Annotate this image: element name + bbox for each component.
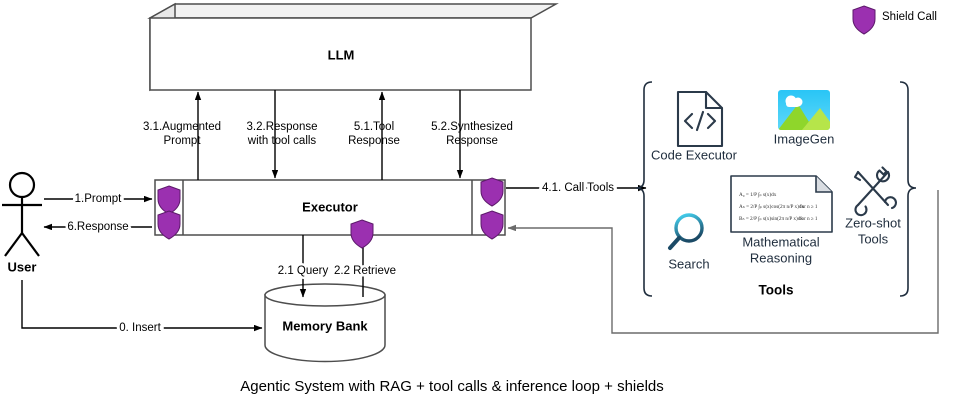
edge-tool-responses-line (508, 190, 938, 333)
edge-call-tools-label: 4.1. Call Tools (542, 182, 614, 194)
edge-synthesized-response-label-2: Response (446, 135, 498, 147)
edge-insert-label: 0. Insert (119, 322, 161, 334)
edge-response-tool-calls-label-1: 3.2.Response (247, 121, 318, 133)
tools-brace-left (636, 82, 652, 296)
edge-augmented-prompt-label-2: Prompt (163, 135, 201, 147)
tool-zero-shot[interactable]: Zero-shot Tools (845, 168, 901, 247)
agentic-system-diagram: LLM Executor Memory Bank User 1.Prompt 6… (0, 0, 970, 411)
tool-code-executor-label: Code Executor (651, 147, 738, 162)
user-leg-right (22, 233, 39, 256)
edge-augmented-prompt-label-1: 3.1.Augmented (143, 121, 221, 133)
edge-tool-response-label-2: Response (348, 135, 400, 147)
edge-response-tool-calls-label-2: with tool calls (247, 135, 317, 147)
tool-mathematical-reasoning[interactable]: A₀ = 1/P ∫ₚ s(x)dx Aₙ = 2/P ∫ₚ s(x)cos(2… (731, 176, 832, 265)
node-llm[interactable]: LLM (150, 4, 556, 90)
tool-math-label-2: Reasoning (750, 250, 812, 265)
llm-cube-top (150, 4, 556, 18)
edge-synthesized-response-label-1: 5.2.Synthesized (431, 121, 513, 133)
legend: Shield Call (853, 6, 937, 34)
node-memory-bank[interactable]: Memory Bank (265, 284, 385, 362)
node-executor[interactable]: Executor (155, 180, 505, 235)
user-head (10, 173, 34, 197)
node-user[interactable]: User (2, 173, 42, 274)
edge-prompt-label: 1.Prompt (75, 193, 122, 205)
shield-executor-bottom-center[interactable] (351, 220, 373, 248)
code-document-icon (678, 92, 722, 146)
shield-icon (853, 6, 875, 34)
edge-tool-response-label-1: 5.1.Tool (354, 121, 394, 133)
svg-text:for n ≥ 1: for n ≥ 1 (800, 217, 818, 222)
tool-zero-shot-label-1: Zero-shot (845, 215, 901, 230)
executor-label: Executor (302, 199, 358, 214)
tools-panel-label: Tools (759, 283, 794, 298)
edge-insert-line (22, 280, 262, 328)
svg-text:Aₙ = 2/P ∫ₚ s(x)cos(2π n/P x)d: Aₙ = 2/P ∫ₚ s(x)cos(2π n/P x)dx (739, 203, 804, 210)
magnifier-icon (670, 215, 702, 248)
tool-math-label-1: Mathematical (742, 234, 819, 249)
legend-label: Shield Call (882, 11, 937, 23)
memory-bank-top (265, 284, 385, 306)
edge-retrieve-label: 2.2 Retrieve (334, 265, 396, 277)
edge-response-label: 6.Response (67, 221, 128, 233)
math-document-icon: A₀ = 1/P ∫ₚ s(x)dx Aₙ = 2/P ∫ₚ s(x)cos(2… (731, 176, 832, 232)
svg-text:A₀ = 1/P ∫ₚ s(x)dx: A₀ = 1/P ∫ₚ s(x)dx (739, 191, 777, 198)
tool-code-executor[interactable]: Code Executor (651, 92, 738, 162)
tool-search-label: Search (668, 256, 709, 271)
tool-zero-shot-label-2: Tools (858, 231, 889, 246)
tool-search[interactable]: Search (668, 215, 709, 271)
tool-imagegen-label: ImageGen (774, 131, 835, 146)
image-icon (778, 90, 836, 130)
diagram-canvas: LLM Executor Memory Bank User 1.Prompt 6… (0, 0, 970, 411)
tool-imagegen[interactable]: ImageGen (774, 90, 836, 146)
diagram-caption: Agentic System with RAG + tool calls & i… (240, 378, 664, 395)
svg-text:for n ≥ 1: for n ≥ 1 (800, 205, 818, 210)
llm-label: LLM (328, 47, 355, 62)
memory-bank-label: Memory Bank (282, 318, 368, 333)
edge-query-label: 2.1 Query (278, 265, 329, 277)
user-label: User (8, 259, 37, 274)
crossed-tools-icon (855, 168, 896, 216)
user-leg-left (5, 233, 22, 256)
tools-brace-right (900, 82, 916, 296)
svg-text:Bₙ = 2/P ∫ₚ s(x)sin(2π n/P x)d: Bₙ = 2/P ∫ₚ s(x)sin(2π n/P x)dx (739, 215, 803, 222)
